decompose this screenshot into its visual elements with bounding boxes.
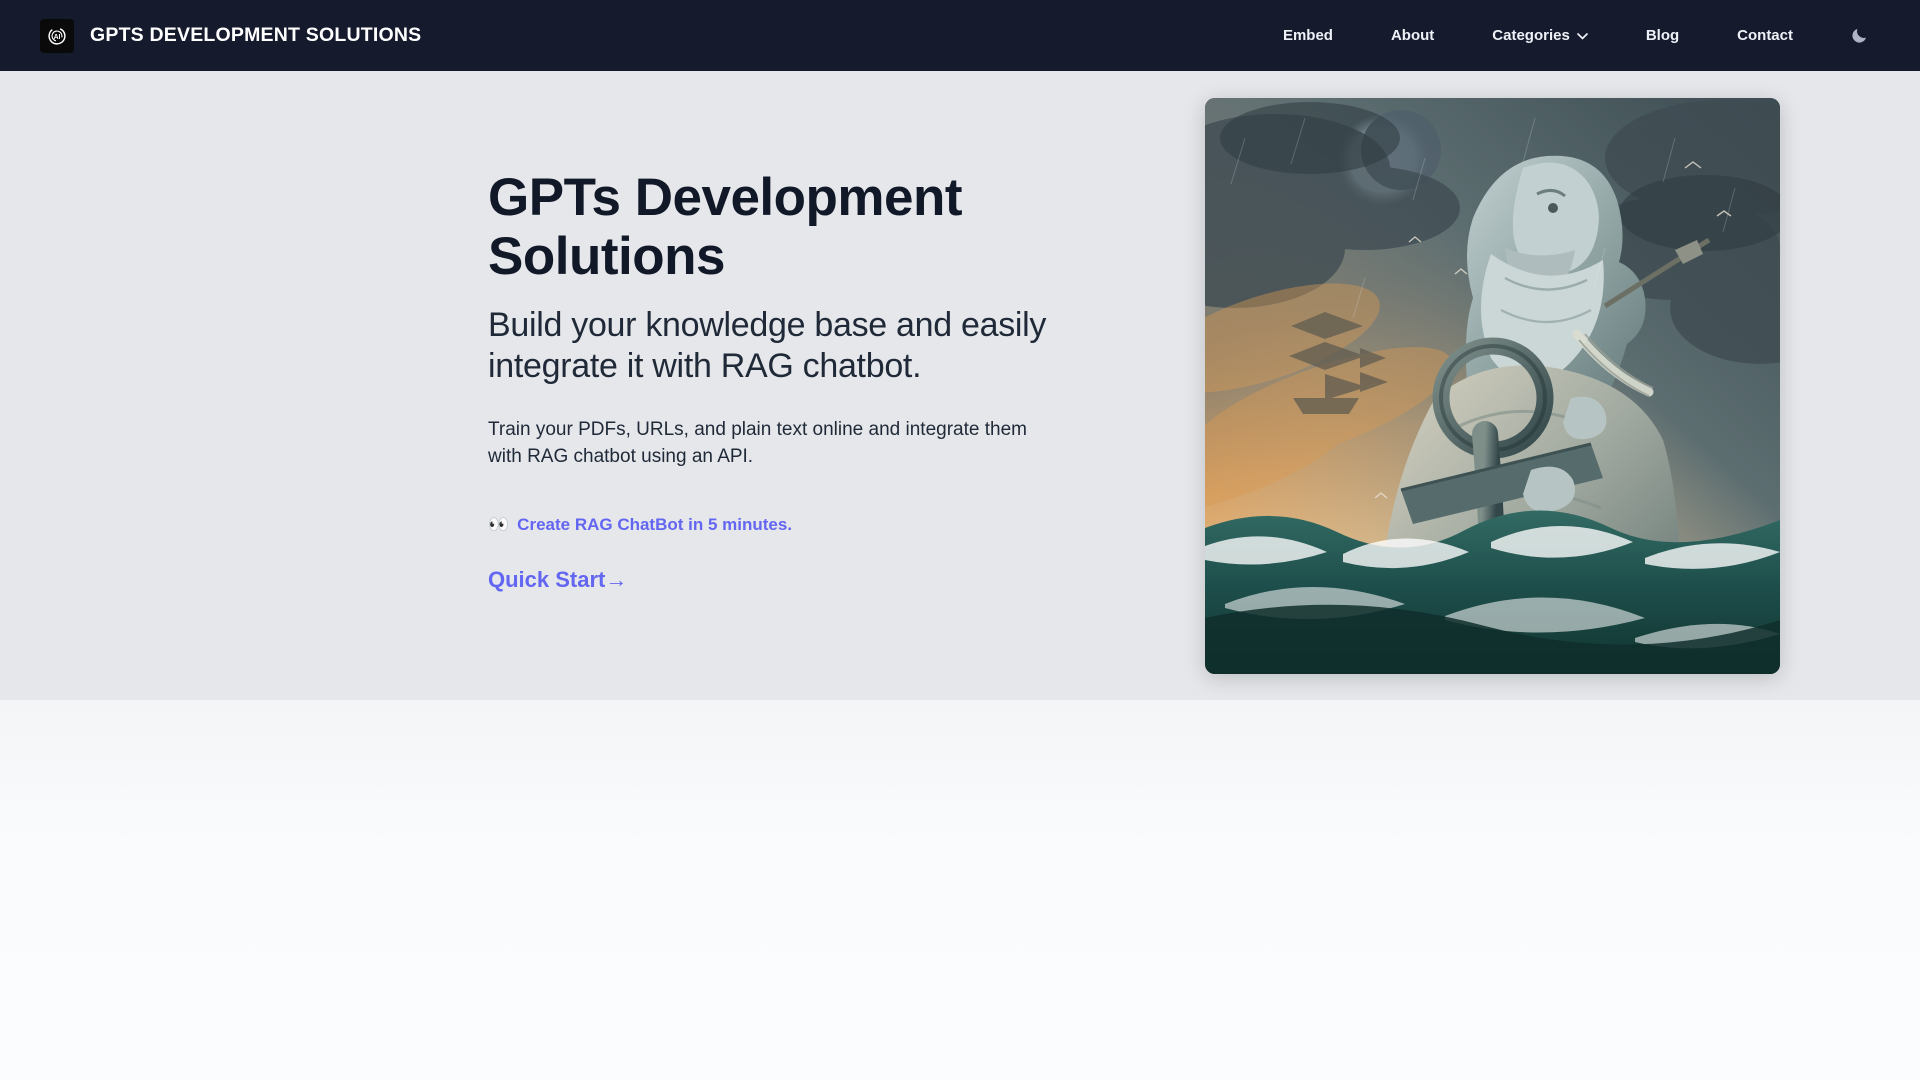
brand-title: GPTS DEVELOPMENT SOLUTIONS (90, 24, 421, 47)
quick-start-label: Quick Start (488, 567, 605, 593)
top-navigation-bar: AI GPTS DEVELOPMENT SOLUTIONS Embed Abou… (0, 0, 1920, 71)
embed-section: AI Home Price Blog About Log out → 🐧 adm… (0, 700, 1920, 1080)
arrow-right-icon: → (605, 567, 627, 593)
nav-item-label: About (1391, 27, 1434, 44)
nav-item-label: Blog (1646, 27, 1679, 44)
chevron-down-icon (1577, 27, 1588, 44)
page-title: GPTs Development Solutions (488, 168, 1163, 287)
nav-item-embed[interactable]: Embed (1254, 27, 1362, 44)
hero-copy: GPTs Development Solutions Build your kn… (485, 168, 1163, 593)
nav-item-blog[interactable]: Blog (1617, 27, 1708, 44)
moon-icon[interactable] (1846, 23, 1872, 49)
nav-item-label: Embed (1283, 27, 1333, 44)
svg-text:AI: AI (54, 33, 61, 40)
quick-start-button[interactable]: Quick Start → (488, 567, 627, 593)
hero-section: GPTs Development Solutions Build your kn… (0, 71, 1920, 700)
hero-subheading: Build your knowledge base and easily int… (488, 305, 1068, 388)
nav-item-label: Contact (1737, 27, 1793, 44)
nav-item-label: Categories (1492, 27, 1570, 44)
ai-monogram-icon: AI (40, 19, 74, 53)
nav-item-contact[interactable]: Contact (1708, 27, 1822, 44)
brand[interactable]: AI GPTS DEVELOPMENT SOLUTIONS (40, 19, 421, 53)
eyes-emoji-icon: 👀 (488, 515, 509, 535)
nav-links: Embed About Categories Blog Contact (1254, 23, 1872, 49)
nav-item-about[interactable]: About (1362, 27, 1463, 44)
hero-artwork-wrapper (1205, 98, 1780, 674)
hero-paragraph: Train your PDFs, URLs, and plain text on… (488, 416, 1053, 471)
create-rag-chatbot-link[interactable]: 👀 Create RAG ChatBot in 5 minutes. (488, 515, 1163, 535)
create-rag-chatbot-label: Create RAG ChatBot in 5 minutes. (517, 515, 792, 535)
hero-artwork (1205, 98, 1780, 674)
nav-item-categories[interactable]: Categories (1463, 27, 1617, 44)
